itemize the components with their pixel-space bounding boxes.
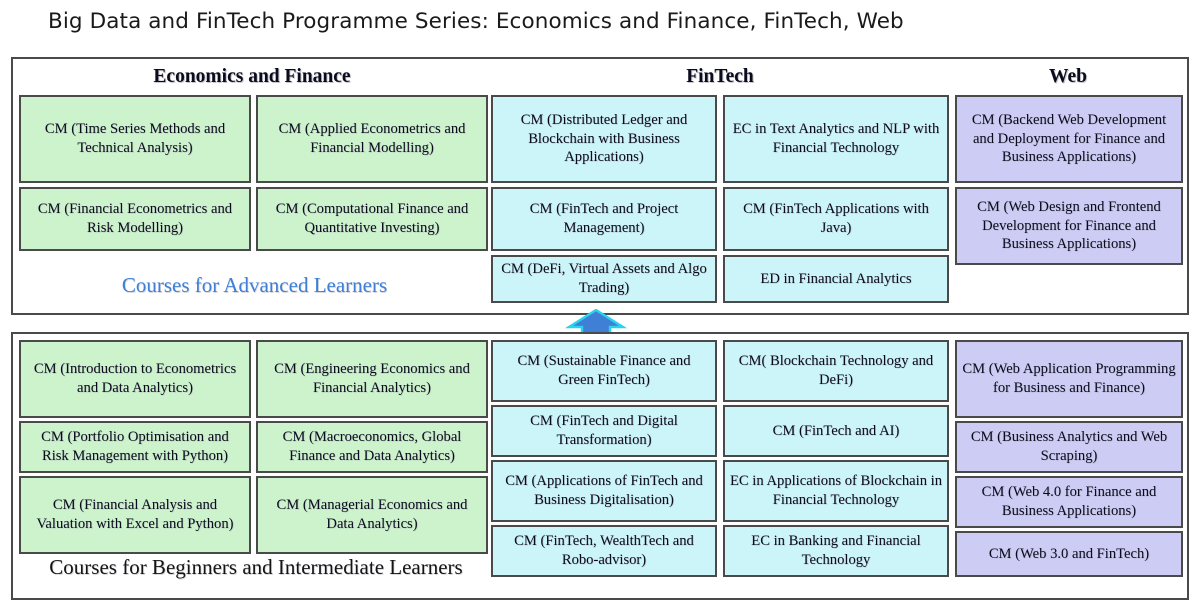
course-box[interactable]: CM (Web 4.0 for Finance and Business App… xyxy=(955,476,1183,528)
course-box[interactable]: CM (FinTech and Project Management) xyxy=(491,187,717,251)
course-box[interactable]: CM (FinTech Applications with Java) xyxy=(723,187,949,251)
course-box[interactable]: CM (Managerial Economics and Data Analyt… xyxy=(256,476,488,554)
course-box[interactable]: CM (Introduction to Econometrics and Dat… xyxy=(19,340,251,418)
advanced-learners-panel: Economics and Finance FinTech Web CM (Ti… xyxy=(11,57,1189,315)
course-box[interactable]: CM (FinTech and Digital Transformation) xyxy=(491,405,717,457)
column-header-fintech: FinTech xyxy=(489,63,951,91)
advanced-learners-caption: Courses for Advanced Learners xyxy=(27,274,482,297)
course-box[interactable]: CM (Engineering Economics and Financial … xyxy=(256,340,488,418)
course-box[interactable]: CM (Business Analytics and Web Scraping) xyxy=(955,421,1183,473)
course-box[interactable]: ED in Financial Analytics xyxy=(723,255,949,303)
course-box[interactable]: EC in Banking and Financial Technology xyxy=(723,525,949,577)
course-box[interactable]: CM (FinTech, WealthTech and Robo-advisor… xyxy=(491,525,717,577)
course-box[interactable]: CM (Backend Web Development and Deployme… xyxy=(955,95,1183,183)
course-box[interactable]: CM( Blockchain Technology and DeFi) xyxy=(723,340,949,402)
course-box[interactable]: CM (Macroeconomics, Global Finance and D… xyxy=(256,421,488,473)
course-box[interactable]: CM (Sustainable Finance and Green FinTec… xyxy=(491,340,717,402)
course-box[interactable]: CM (Financial Econometrics and Risk Mode… xyxy=(19,187,251,251)
course-box[interactable]: CM (FinTech and AI) xyxy=(723,405,949,457)
course-box[interactable]: EC in Text Analytics and NLP with Financ… xyxy=(723,95,949,183)
course-box[interactable]: CM (Computational Finance and Quantitati… xyxy=(256,187,488,251)
column-header-economics-and-finance: Economics and Finance xyxy=(17,63,487,91)
beginner-intermediate-caption: Courses for Beginners and Intermediate L… xyxy=(21,556,491,579)
course-box[interactable]: CM (Web 3.0 and FinTech) xyxy=(955,531,1183,577)
course-box[interactable]: CM (Portfolio Optimisation and Risk Mana… xyxy=(19,421,251,473)
page-title: Big Data and FinTech Programme Series: E… xyxy=(48,2,1168,42)
course-box[interactable]: CM (DeFi, Virtual Assets and Algo Tradin… xyxy=(491,255,717,303)
course-box[interactable]: CM (Time Series Methods and Technical An… xyxy=(19,95,251,183)
course-box[interactable]: CM (Web Application Programming for Busi… xyxy=(955,340,1183,418)
beginner-intermediate-panel: CM (Introduction to Econometrics and Dat… xyxy=(11,332,1189,600)
course-box[interactable]: CM (Web Design and Frontend Development … xyxy=(955,187,1183,265)
course-box[interactable]: CM (Applications of FinTech and Business… xyxy=(491,460,717,522)
course-box[interactable]: CM (Distributed Ledger and Blockchain wi… xyxy=(491,95,717,183)
course-box[interactable]: EC in Applications of Blockchain in Fina… xyxy=(723,460,949,522)
course-box[interactable]: CM (Financial Analysis and Valuation wit… xyxy=(19,476,251,554)
column-header-web: Web xyxy=(953,63,1183,91)
course-box[interactable]: CM (Applied Econometrics and Financial M… xyxy=(256,95,488,183)
